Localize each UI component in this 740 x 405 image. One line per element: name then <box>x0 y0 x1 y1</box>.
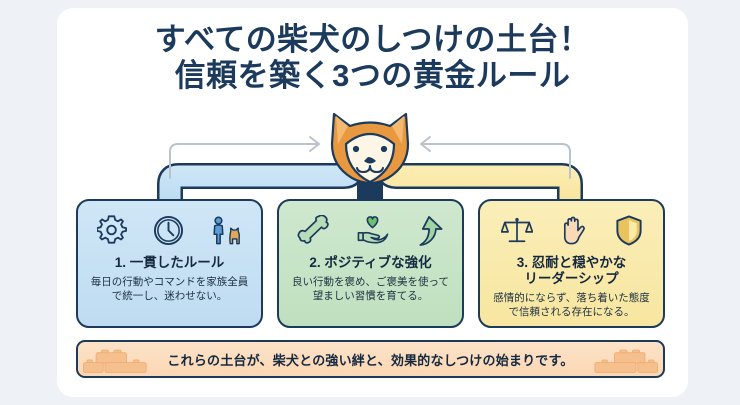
person-with-dog-icon <box>210 215 242 246</box>
card-description: 毎日の行動やコマンドを家族全員で統一し、迷わせない。 <box>87 275 253 303</box>
card-title: 1. 一貫したルール <box>115 255 225 271</box>
banner-text: これらの土台が、柴犬との強い絆と、効果的なしつけの始まりです。 <box>167 350 573 369</box>
clock-icon <box>153 215 184 246</box>
card-patient-leadership[interactable]: 3. 忍耐と穏やかな リーダーシップ 感情的にならず、落ち着いた態度で信頼される… <box>478 199 665 328</box>
card-description: 感情的にならず、落ち着いた態度で信頼される存在になる。 <box>489 291 655 319</box>
card-positive-reinforcement[interactable]: 2. ポジティブな強化 良い行動を褒め、ご褒美を使って望ましい習慣を育てる。 <box>277 199 464 328</box>
bone-icon <box>297 215 330 245</box>
upward-arrow-icon <box>415 215 445 246</box>
icon-row <box>78 208 261 252</box>
card-title: 3. 忍耐と穏やかな リーダーシップ <box>517 255 627 287</box>
hand-holding-heart-icon <box>356 215 389 245</box>
icon-row <box>480 208 663 252</box>
footer-banner: これらの土台が、柴犬との強い絆と、効果的なしつけの始まりです。 <box>76 340 665 378</box>
card-description: 良い行動を褒め、ご褒美を使って望ましい習慣を育てる。 <box>288 275 454 303</box>
gear-icon <box>97 215 127 245</box>
balance-scale-icon <box>501 215 533 245</box>
shield-icon <box>615 215 643 246</box>
lego-brick-icon <box>558 342 663 376</box>
icon-row <box>279 208 462 252</box>
shiba-inu-dog-head-icon <box>320 104 420 192</box>
card-title: 2. ポジティブな強化 <box>309 255 431 271</box>
infographic-root: すべての柴犬のしつけの土台！ 信頼を築く3つの黄金ルール <box>0 0 740 405</box>
raised-palm-icon <box>559 215 589 246</box>
card-consistent-rules[interactable]: 1. 一貫したルール 毎日の行動やコマンドを家族全員で統一し、迷わせない。 <box>76 199 263 328</box>
